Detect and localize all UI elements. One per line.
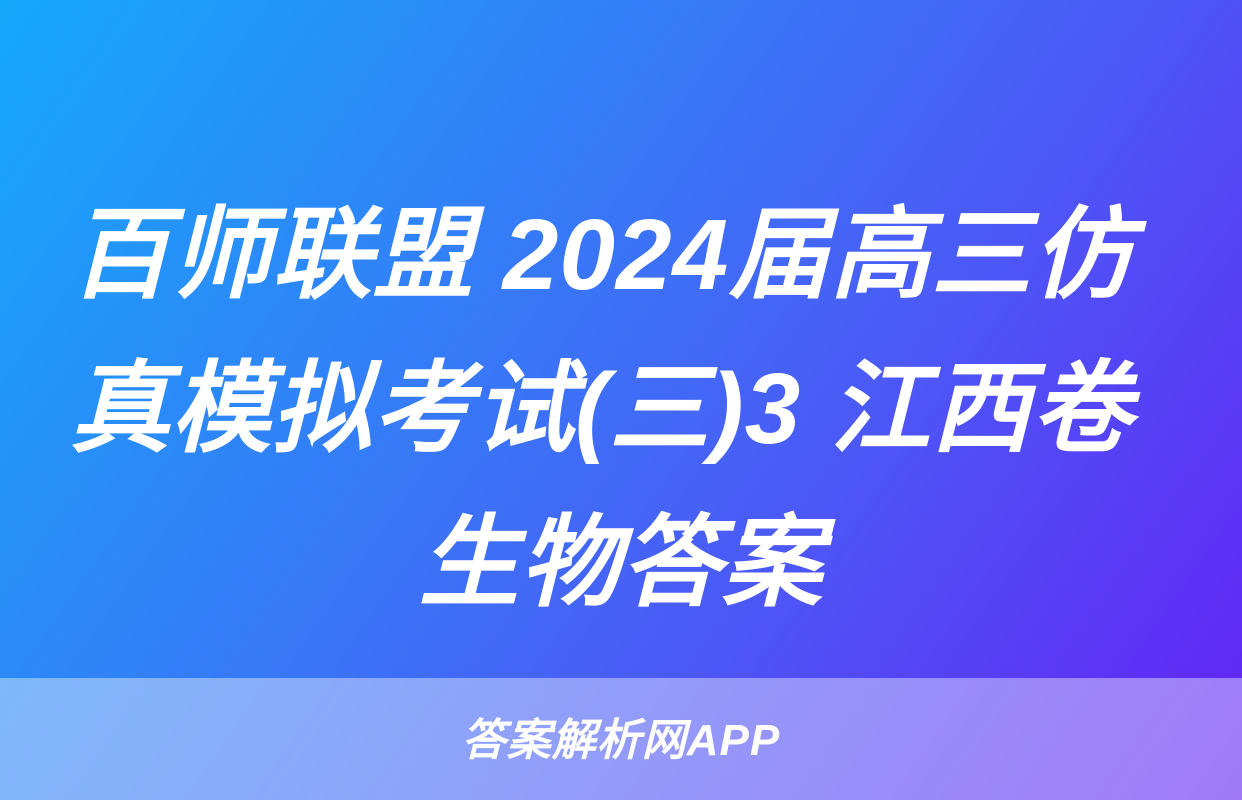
title-line-1: 百师联盟 2024届高三仿	[70, 178, 1172, 332]
poster-card: 百师联盟 2024届高三仿 真模拟考试(三)3 江西卷 生物答案 答案解析网AP…	[0, 0, 1242, 800]
title-line-3: 生物答案	[70, 486, 1172, 640]
watermark-app-label: 答案解析网APP	[462, 719, 780, 763]
page-title: 百师联盟 2024届高三仿 真模拟考试(三)3 江西卷 生物答案	[0, 178, 1242, 640]
title-line-2: 真模拟考试(三)3 江西卷	[70, 332, 1172, 486]
watermark-band: 答案解析网APP	[0, 678, 1242, 800]
